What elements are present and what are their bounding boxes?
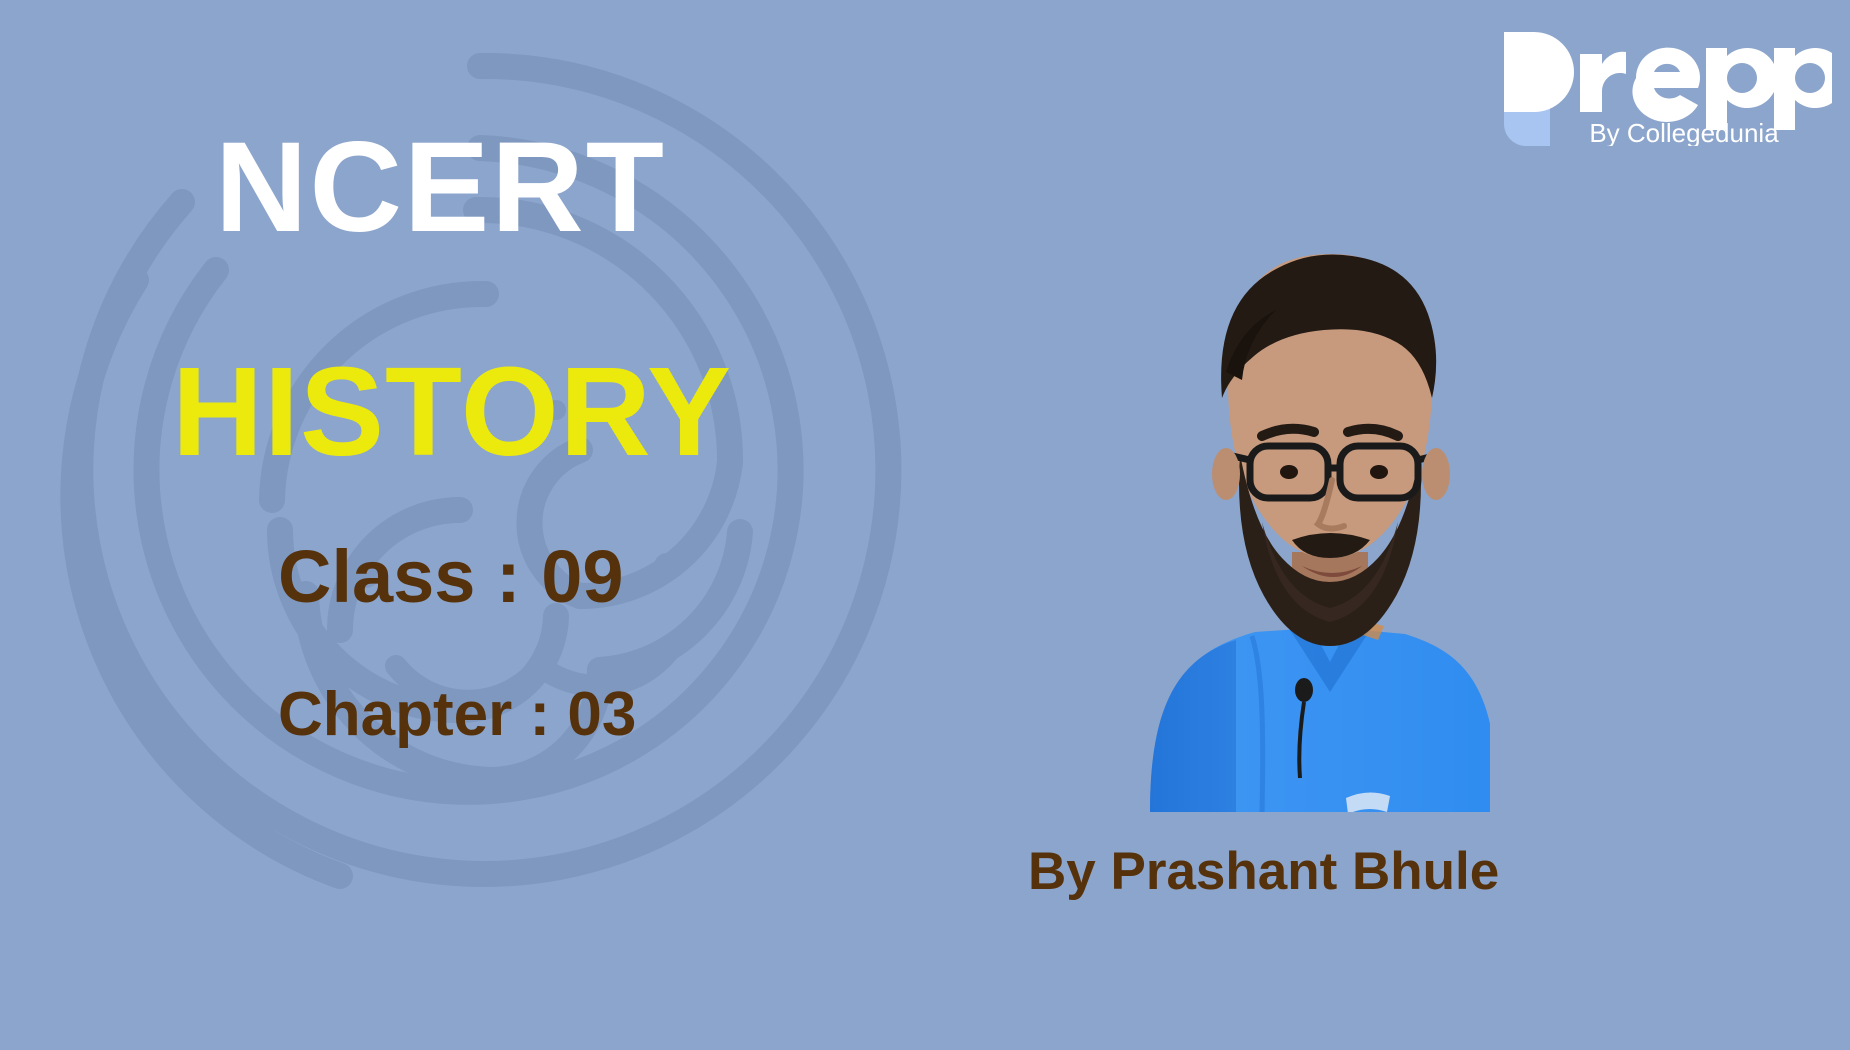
presenter-video-cutout <box>1000 222 1490 812</box>
title-block: NCERT HISTORY Class : 09 Chapter : 03 <box>0 0 1000 1050</box>
slide-canvas: By Collegedunia NCERT HISTORY Class : 09… <box>0 0 1850 1050</box>
prepp-logo: By Collegedunia <box>1502 18 1832 146</box>
presenter-head <box>1212 254 1450 646</box>
class-label: Class : 09 <box>278 540 624 614</box>
chapter-label: Chapter : 03 <box>278 684 636 746</box>
presenter-byline: By Prashant Bhule <box>1028 845 1499 898</box>
subject-title: HISTORY <box>172 349 732 475</box>
series-title: NCERT <box>215 124 666 252</box>
brand-tagline-text: By Collegedunia <box>1589 118 1779 146</box>
presenter-torso <box>1150 618 1490 812</box>
